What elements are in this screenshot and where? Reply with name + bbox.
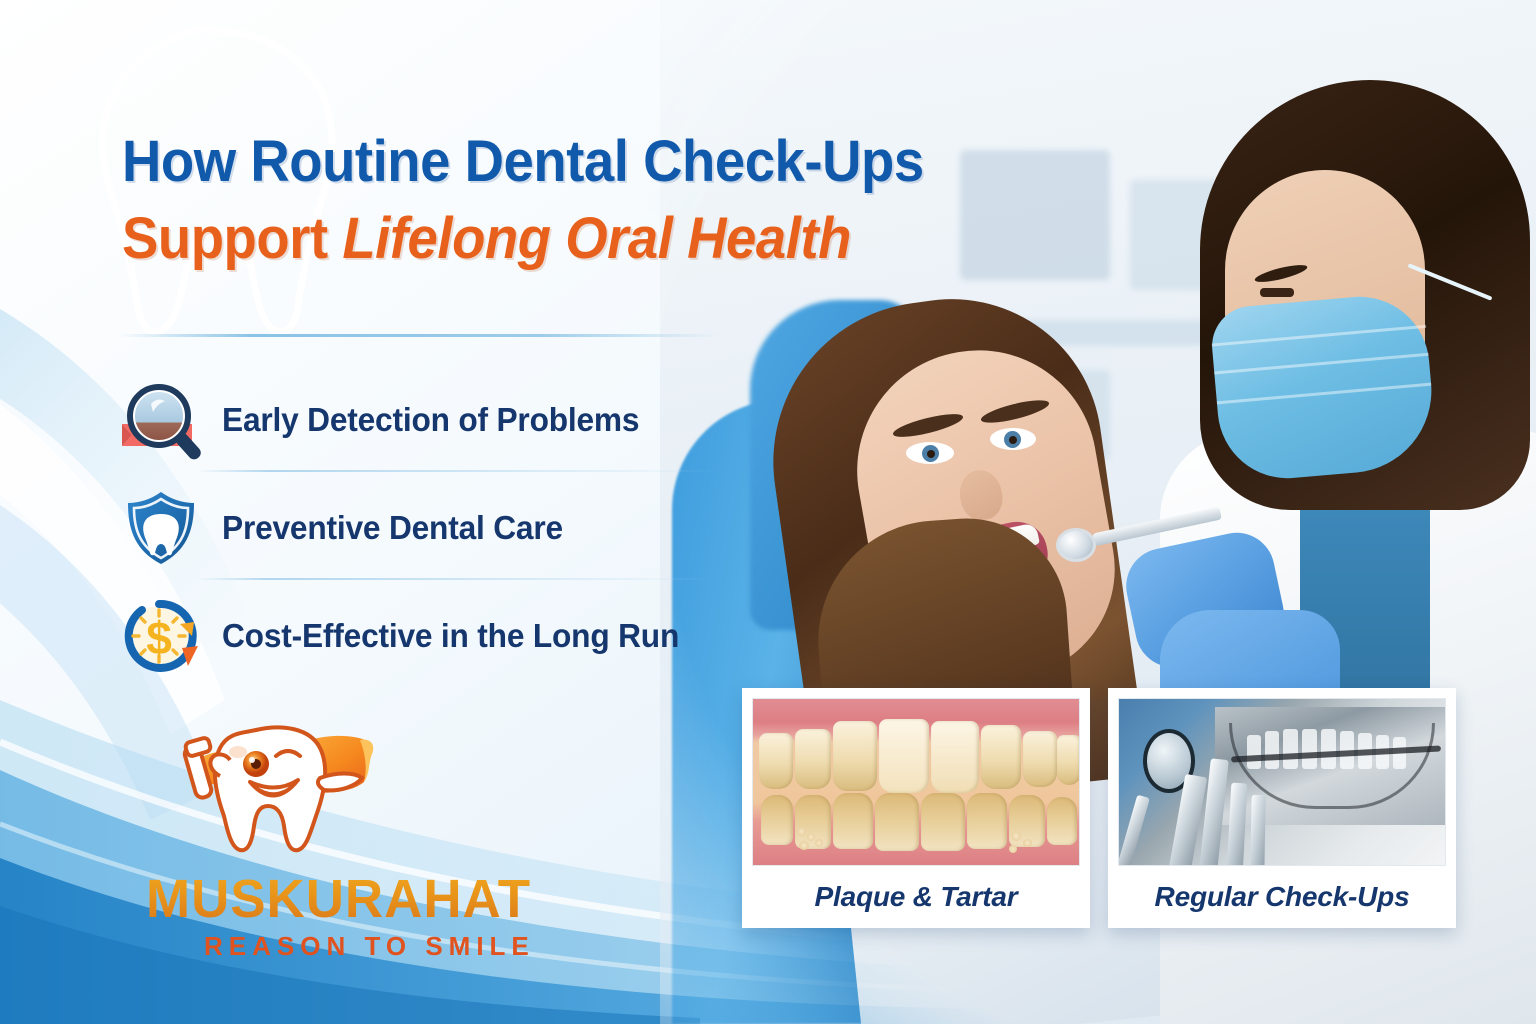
card-plaque-tartar[interactable]: Plaque & Tartar xyxy=(742,688,1090,928)
card-regular-checkups[interactable]: Regular Check-Ups xyxy=(1108,688,1456,928)
content-column: How Routine Dental Check-Ups Support Lif… xyxy=(0,0,740,1024)
smiling-tooth-mascot-icon xyxy=(164,716,424,866)
clock-dollar-icon: $ xyxy=(118,596,204,676)
benefit-item-preventive-care: Preventive Dental Care xyxy=(118,474,738,582)
headline-line-2: Support Lifelong Oral Health xyxy=(122,205,968,272)
magnifier-ribbon-icon xyxy=(118,380,204,460)
benefit-label: Cost-Effective in the Long Run xyxy=(222,617,679,655)
card-caption: Plaque & Tartar xyxy=(752,866,1080,928)
shield-tooth-icon xyxy=(118,488,204,568)
plaque-tartar-photo xyxy=(752,698,1080,866)
headline-divider xyxy=(120,334,720,337)
benefits-list: Early Detection of Problems xyxy=(118,366,738,690)
benefit-divider xyxy=(196,470,716,472)
card-caption: Regular Check-Ups xyxy=(1118,866,1446,928)
headline-line-2-emphasis: Lifelong Oral Health xyxy=(342,206,851,271)
benefit-item-cost-effective: $ Cost-Effective in the Long Run xyxy=(118,582,738,690)
brand-logo[interactable]: MUSKURAHAT REASON TO SMILE xyxy=(146,716,566,962)
brand-name: MUSKURAHAT xyxy=(146,868,558,930)
banner-canvas: How Routine Dental Check-Ups Support Lif… xyxy=(0,0,1536,1024)
benefit-item-early-detection: Early Detection of Problems xyxy=(118,366,738,474)
benefit-label: Early Detection of Problems xyxy=(222,401,639,439)
benefit-divider xyxy=(196,578,716,580)
svg-text:$: $ xyxy=(146,612,172,664)
photo-cards: Plaque & Tartar xyxy=(742,688,1456,928)
brand-tagline: REASON TO SMILE xyxy=(204,931,566,962)
benefit-label: Preventive Dental Care xyxy=(222,509,563,547)
page-title: How Routine Dental Check-Ups Support Lif… xyxy=(122,128,1022,272)
headline-line-2-prefix: Support xyxy=(122,206,342,271)
dental-instruments-xray-photo xyxy=(1118,698,1446,866)
headline-line-1: How Routine Dental Check-Ups xyxy=(122,128,968,195)
